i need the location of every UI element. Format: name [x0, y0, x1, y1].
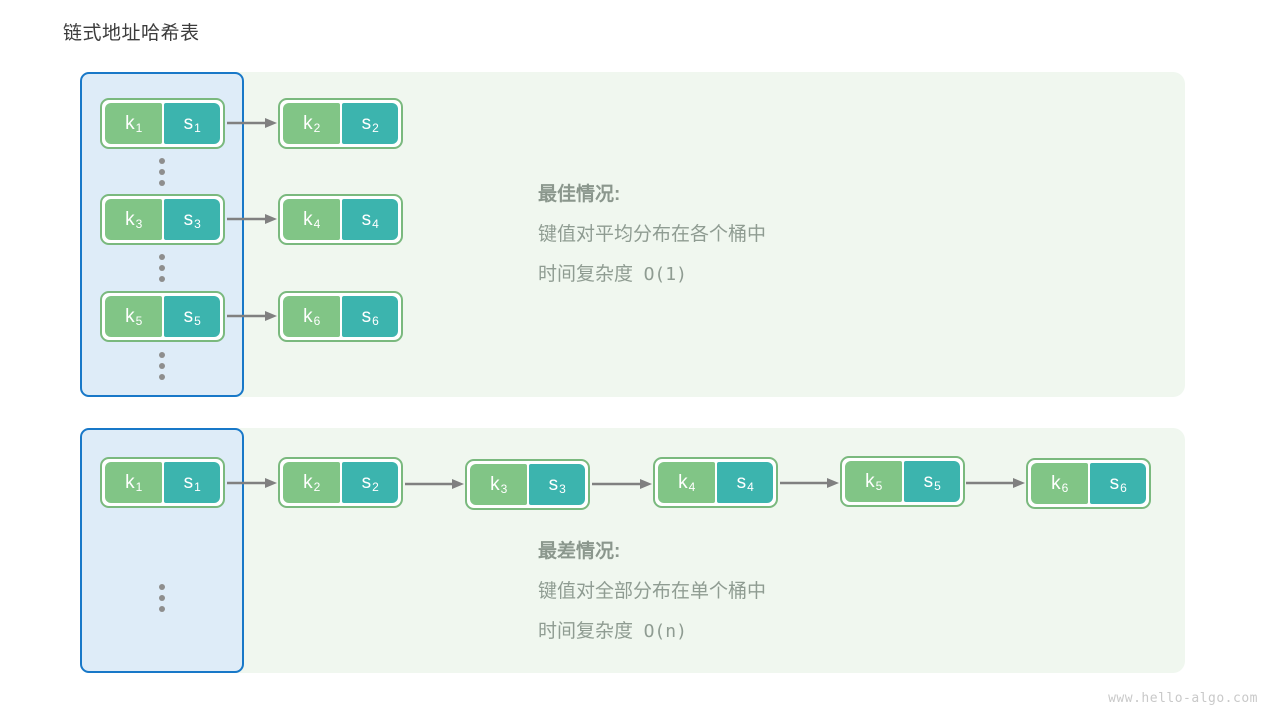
node-key-cell: k2 [283, 103, 340, 144]
caption-line-2: 时间复杂度 O(1) [538, 255, 766, 295]
node-key-cell: k1 [105, 462, 162, 503]
node-value-cell: s2 [342, 103, 399, 144]
node-value-cell: s1 [164, 462, 221, 503]
page-title: 链式地址哈希表 [63, 18, 200, 45]
node-value-cell: s1 [164, 103, 221, 144]
vertical-ellipsis-icon [157, 158, 167, 186]
worst-case-caption: 最差情况: 键值对全部分布在单个桶中 时间复杂度 O(n) [538, 532, 766, 652]
chained-node[interactable]: k4 s4 [278, 194, 403, 245]
complexity-label: 时间复杂度 [538, 621, 633, 642]
node-value-cell: s4 [717, 462, 774, 503]
node-value-cell: s2 [342, 462, 399, 503]
bucket-node[interactable]: k5 s5 [100, 291, 225, 342]
node-key-cell: k3 [105, 199, 162, 240]
node-key-cell: k4 [283, 199, 340, 240]
node-key-cell: k1 [105, 103, 162, 144]
node-key-cell: k6 [1031, 463, 1088, 504]
node-value-cell: s6 [1090, 463, 1147, 504]
node-key-cell: k2 [283, 462, 340, 503]
complexity-label: 时间复杂度 [538, 264, 633, 285]
node-value-cell: s6 [342, 296, 399, 337]
best-case-caption: 最佳情况: 键值对平均分布在各个桶中 时间复杂度 O(1) [538, 175, 766, 295]
node-key-cell: k5 [845, 461, 902, 502]
node-key-cell: k4 [658, 462, 715, 503]
node-value-cell: s3 [529, 464, 586, 505]
caption-line-1: 键值对平均分布在各个桶中 [538, 215, 766, 255]
complexity-value: O(1) [644, 264, 687, 285]
caption-line-1: 键值对全部分布在单个桶中 [538, 572, 766, 612]
node-value-cell: s5 [904, 461, 961, 502]
vertical-ellipsis-icon [157, 584, 167, 612]
chain-node[interactable]: k2 s2 [278, 457, 403, 508]
chained-node[interactable]: k2 s2 [278, 98, 403, 149]
vertical-ellipsis-icon [157, 352, 167, 380]
node-key-cell: k5 [105, 296, 162, 337]
complexity-value: O(n) [644, 621, 687, 642]
caption-heading: 最佳情况: [538, 175, 766, 215]
chain-node[interactable]: k3 s3 [465, 459, 590, 510]
caption-heading: 最差情况: [538, 532, 766, 572]
chain-node[interactable]: k1 s1 [100, 457, 225, 508]
chain-node[interactable]: k6 s6 [1026, 458, 1151, 509]
chain-node[interactable]: k4 s4 [653, 457, 778, 508]
bucket-node[interactable]: k1 s1 [100, 98, 225, 149]
vertical-ellipsis-icon [157, 254, 167, 282]
bucket-node[interactable]: k3 s3 [100, 194, 225, 245]
node-value-cell: s3 [164, 199, 221, 240]
chain-node[interactable]: k5 s5 [840, 456, 965, 507]
node-key-cell: k6 [283, 296, 340, 337]
node-key-cell: k3 [470, 464, 527, 505]
node-value-cell: s5 [164, 296, 221, 337]
caption-line-2: 时间复杂度 O(n) [538, 612, 766, 652]
chained-node[interactable]: k6 s6 [278, 291, 403, 342]
watermark: www.hello-algo.com [1108, 691, 1258, 706]
node-value-cell: s4 [342, 199, 399, 240]
